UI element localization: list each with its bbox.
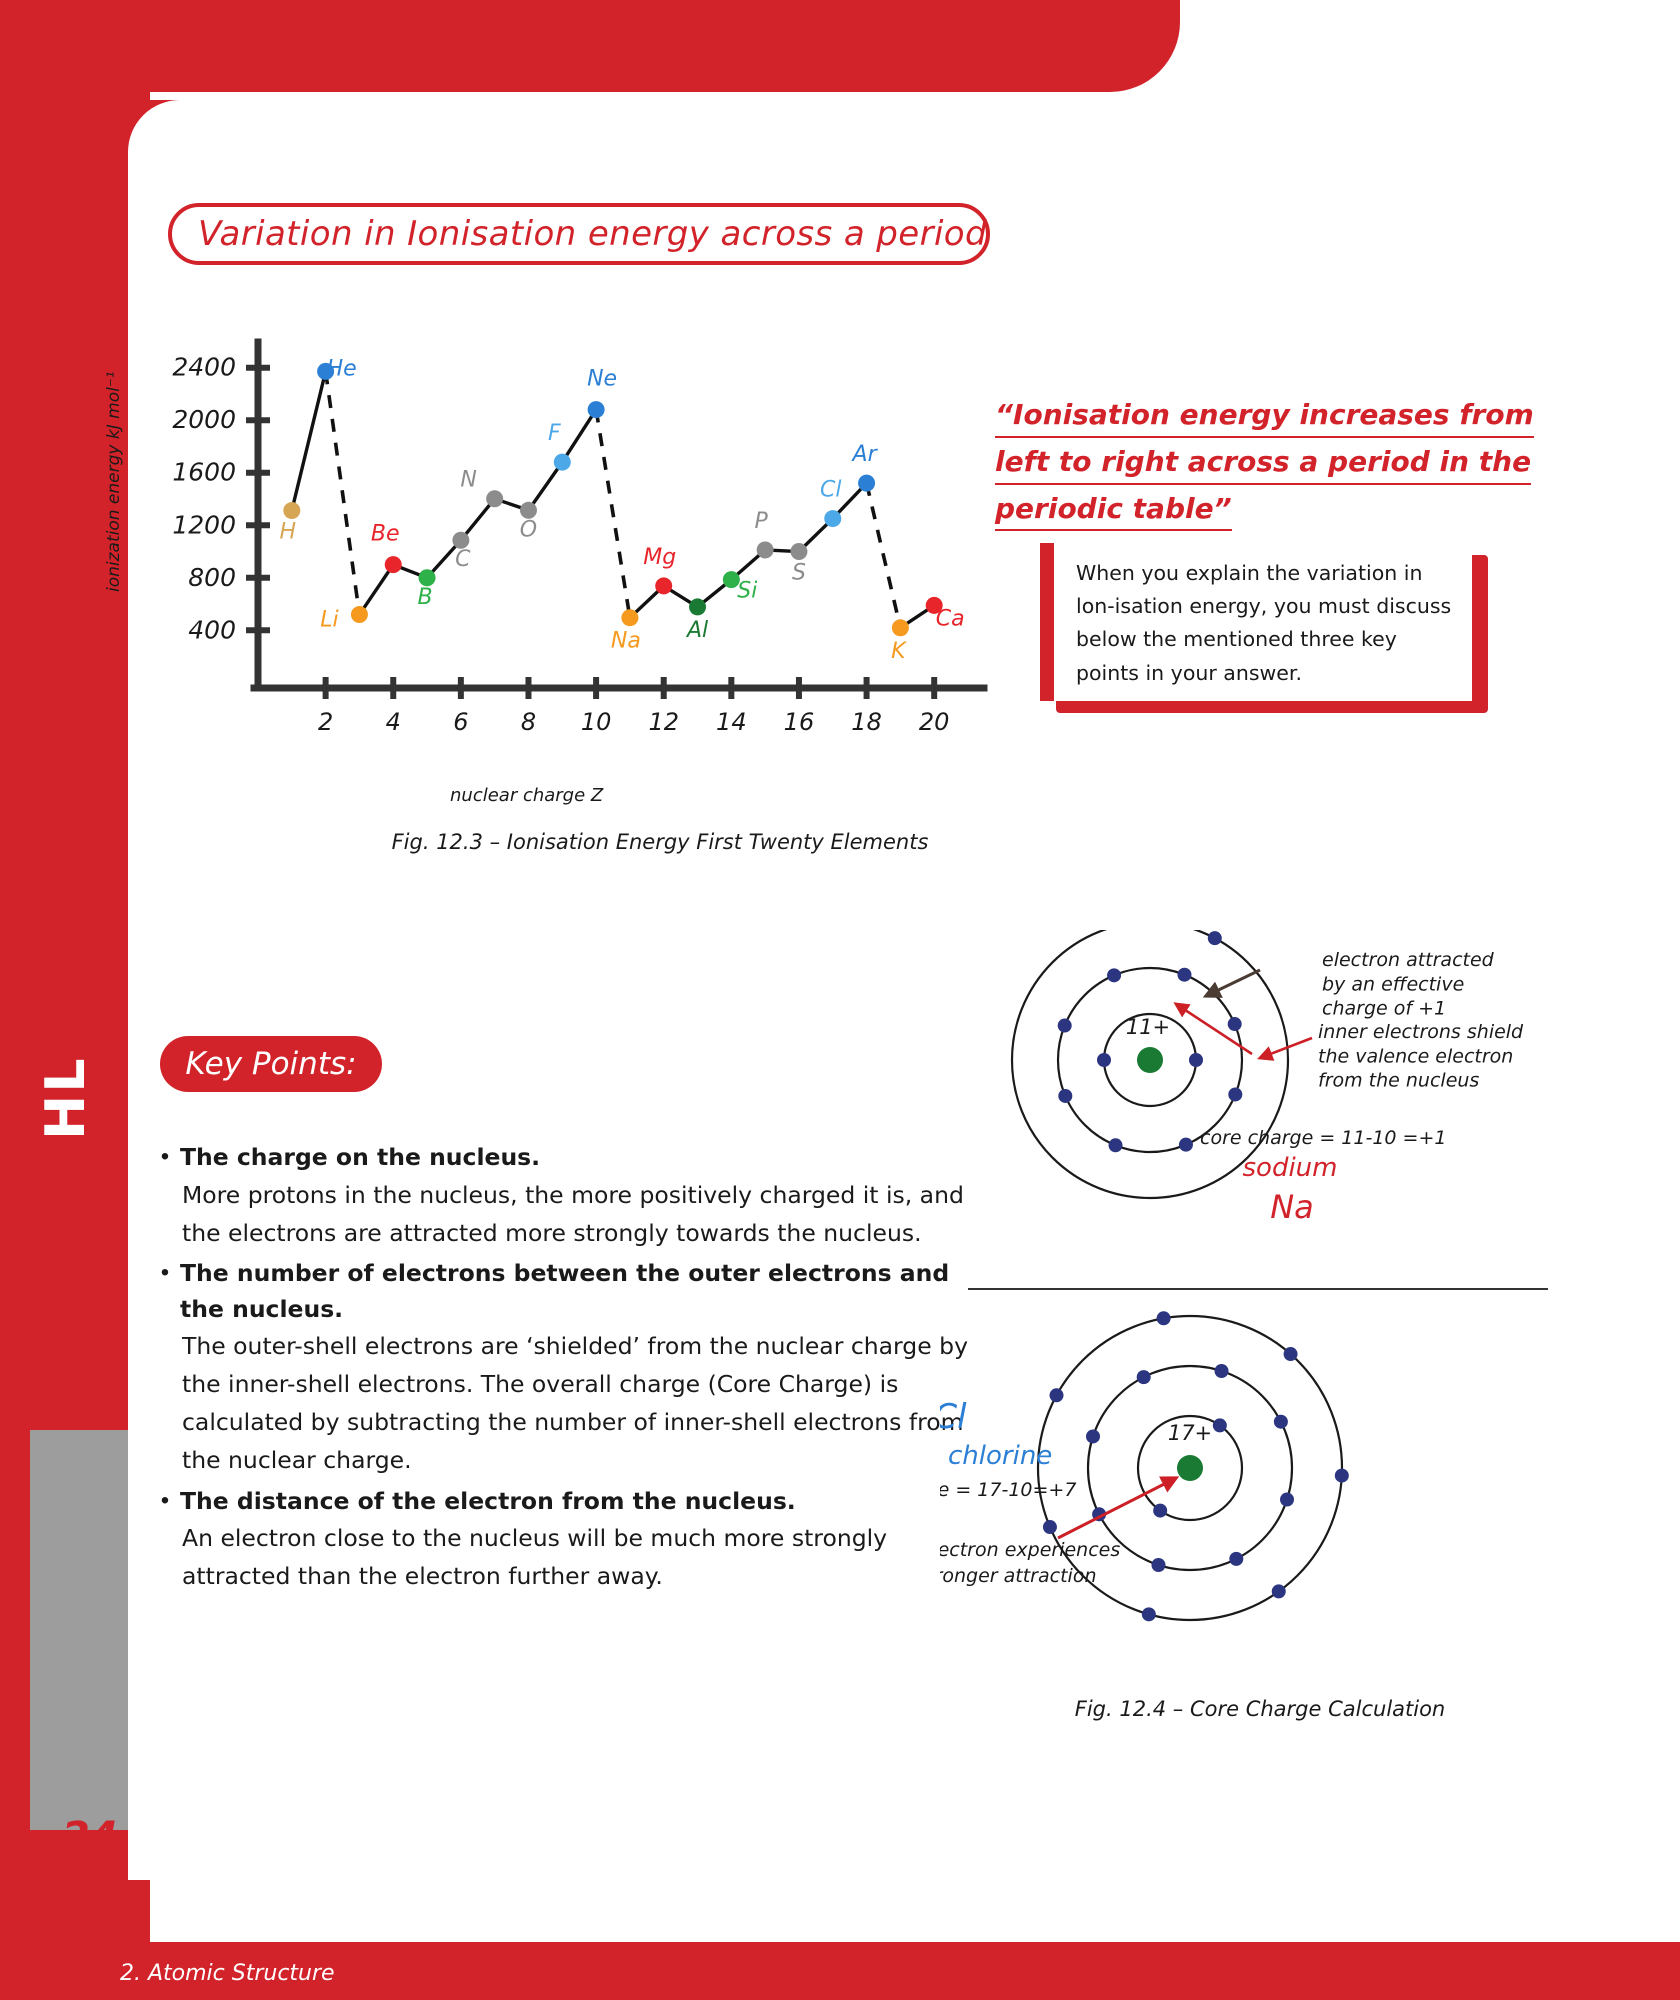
key-point-body: The number of electrons between the oute… (180, 1256, 970, 1480)
pull-quote: “Ionisation energy increases from left t… (995, 395, 1555, 535)
chart-x-tick-label: 12 (648, 708, 679, 736)
chart-x-tick-label: 8 (521, 708, 536, 736)
key-point-item: •The number of electrons between the out… (150, 1256, 970, 1480)
sodium-atom-diagram: 11+electron attractedby an effectivechar… (960, 930, 1600, 1290)
sodium-atom-svg: 11+electron attractedby an effectivechar… (960, 930, 1600, 1290)
quote-line-2: left to right across a period in the (995, 442, 1531, 485)
chlorine-core-charge-label: core charge = 17-10=+7 (940, 1479, 1076, 1501)
sodium-symbol: Na (1270, 1188, 1314, 1226)
chart-point-label: K (891, 639, 907, 664)
chart-point-label: Ne (587, 367, 617, 392)
electron (1058, 1019, 1072, 1033)
chart-x-tick-label: 6 (453, 708, 468, 736)
electron (1284, 1347, 1298, 1361)
key-point-body: The distance of the electron from the nu… (180, 1484, 970, 1596)
chart-x-axis-label: nuclear charge Z (450, 785, 603, 806)
chlorine-symbol: Cl (940, 1397, 967, 1437)
electron (1228, 1017, 1242, 1031)
annotation-inner-shield: inner electrons shield (1318, 1021, 1524, 1043)
chart-data-point (621, 609, 638, 626)
chart-data-point (419, 569, 436, 586)
electron (1280, 1493, 1294, 1507)
chart-x-tick-label: 20 (919, 708, 950, 736)
chart-x-tick-label: 14 (716, 708, 747, 736)
page-title: Variation in Ionisation energy across a … (198, 214, 987, 254)
chart-point-label: C (455, 547, 471, 572)
chart-point-label: O (520, 517, 537, 542)
bullet-dot-icon: • (150, 1140, 180, 1252)
electron (1050, 1388, 1064, 1402)
page-content: Variation in Ionisation energy across a … (0, 0, 1680, 2000)
electron (1109, 1138, 1123, 1152)
chart-point-label: N (460, 468, 476, 493)
chart-figure-caption: Fig. 12.3 – Ionisation Energy First Twen… (350, 830, 970, 854)
electron (1208, 931, 1222, 945)
chart-x-tick-label: 10 (581, 708, 612, 736)
ionisation-energy-chart: 40080012001600200024002468101214161820HH… (150, 330, 1010, 860)
electron (1179, 1138, 1193, 1152)
arrow-inner-shield-1 (1176, 1004, 1252, 1054)
chart-x-tick-label: 16 (784, 708, 815, 736)
key-points-list: •The charge on the nucleus.More protons … (150, 1140, 970, 1599)
key-point-item: •The charge on the nucleus.More protons … (150, 1140, 970, 1252)
key-point-heading: The number of electrons between the oute… (180, 1256, 970, 1327)
electron (1189, 1053, 1203, 1067)
chart-point-label: Li (320, 608, 338, 633)
arrow-electron-attracted (1206, 970, 1260, 996)
chlorine-annotation: This electron experiences (940, 1539, 1120, 1561)
electron (1215, 1364, 1229, 1378)
chart-data-point (283, 502, 300, 519)
annotation-electron-attracted: electron attracted (1322, 949, 1495, 971)
chart-y-tick-label: 2400 (172, 353, 236, 382)
chart-point-label: H (280, 520, 297, 545)
page-title-pill: Variation in Ionisation energy across a … (168, 203, 990, 265)
chart-x-tick-label: 4 (386, 708, 401, 736)
chart-data-point (655, 577, 672, 594)
key-points-pill: Key Points: (160, 1036, 382, 1092)
quote-line-1: “Ionisation energy increases from (995, 395, 1534, 438)
chart-y-tick-label: 1600 (172, 458, 236, 487)
chart-point-label: Cl (820, 478, 841, 503)
chart-data-point (757, 541, 774, 558)
quote-line-3: periodic table” (995, 489, 1232, 532)
nucleus (1137, 1047, 1163, 1073)
chart-point-label: S (792, 561, 806, 586)
electron (1137, 1370, 1151, 1384)
electron (1151, 1558, 1165, 1572)
electron (1229, 1552, 1243, 1566)
nucleus (1177, 1455, 1203, 1481)
annotation-electron-attracted: by an effective (1322, 973, 1464, 995)
electron (1274, 1415, 1288, 1429)
chart-data-point (520, 502, 537, 519)
key-point-body: The charge on the nucleus.More protons i… (180, 1140, 970, 1252)
chart-data-point (858, 475, 875, 492)
chart-svg: 40080012001600200024002468101214161820HH… (150, 330, 1010, 800)
key-point-heading: The charge on the nucleus. (180, 1140, 970, 1176)
chart-point-label: Al (685, 618, 708, 643)
nucleus-charge-label: 11+ (1126, 1015, 1170, 1039)
electron (1228, 1087, 1242, 1101)
chart-x-tick-label: 2 (318, 708, 333, 736)
key-point-text: An electron close to the nucleus will be… (180, 1519, 970, 1595)
chart-point-label: Si (737, 579, 757, 604)
chart-point-label: He (327, 356, 357, 381)
electron (1157, 1311, 1171, 1325)
electron (1086, 1429, 1100, 1443)
annotation-electron-attracted: charge of +1 (1322, 998, 1446, 1020)
key-points-heading: Key Points: (185, 1046, 356, 1082)
chart-point-label: Na (611, 629, 641, 654)
key-point-text: More protons in the nucleus, the more po… (180, 1176, 970, 1252)
section-divider (968, 1288, 1548, 1290)
electron (1043, 1520, 1057, 1534)
chart-y-tick-label: 1200 (172, 510, 236, 539)
chart-point-label: P (755, 509, 769, 534)
callout-text: When you explain the variation in lon-is… (1076, 557, 1456, 690)
chart-point-label: Ca (936, 606, 965, 631)
nucleus-charge-label: 17+ (1168, 1421, 1212, 1445)
chart-y-tick-label: 2000 (172, 405, 236, 434)
electron (1213, 1418, 1227, 1432)
bullet-dot-icon: • (150, 1256, 180, 1480)
chart-point-label: B (418, 585, 433, 610)
chlorine-atom-diagram: 17+Clchlorinecore charge = 17-10=+7This … (940, 1300, 1600, 1700)
chart-point-label: Mg (643, 545, 676, 570)
electron (1272, 1584, 1286, 1598)
key-point-heading: The distance of the electron from the nu… (180, 1484, 970, 1520)
chart-y-tick-label: 800 (188, 563, 236, 592)
annotation-inner-shield: the valence electron (1318, 1045, 1513, 1067)
electron (1107, 968, 1121, 982)
chart-x-tick-label: 18 (851, 708, 882, 736)
chart-data-point (351, 606, 368, 623)
chart-data-point (385, 556, 402, 573)
chart-data-point (486, 490, 503, 507)
chart-data-point (554, 454, 571, 471)
annotation-inner-shield: from the nucleus (1318, 1070, 1479, 1092)
electron (1142, 1607, 1156, 1621)
chart-data-point (790, 543, 807, 560)
chart-data-point (452, 532, 469, 549)
chart-data-point (892, 619, 909, 636)
electron (1153, 1504, 1167, 1518)
chart-data-point (824, 510, 841, 527)
electron (1335, 1469, 1349, 1483)
sodium-element-name: sodium (1243, 1153, 1338, 1183)
figure-caption-2: Fig. 12.4 – Core Charge Calculation (960, 1697, 1560, 1721)
key-point-item: •The distance of the electron from the n… (150, 1484, 970, 1596)
chart-point-label: F (548, 421, 561, 446)
chart-data-point (689, 598, 706, 615)
callout-box: When you explain the variation in lon-is… (1040, 543, 1472, 701)
chart-data-point (588, 401, 605, 418)
chart-y-axis-label: ionization energy kJ mol⁻¹ (104, 371, 124, 592)
electron (1097, 1053, 1111, 1067)
key-point-text: The outer-shell electrons are ‘shielded’… (180, 1327, 970, 1479)
chlorine-atom-svg: 17+Clchlorinecore charge = 17-10=+7This … (940, 1300, 1600, 1700)
chart-point-label: Ar (851, 442, 879, 467)
sodium-core-charge-label: core charge = 11-10 =+1 (1200, 1127, 1446, 1149)
chlorine-annotation: a stronger attraction (940, 1565, 1096, 1587)
chart-point-label: Be (371, 522, 400, 547)
chart-y-tick-label: 400 (188, 615, 236, 644)
electron (1058, 1089, 1072, 1103)
bullet-dot-icon: • (150, 1484, 180, 1596)
electron (1177, 968, 1191, 982)
chlorine-element-name: chlorine (948, 1441, 1052, 1471)
